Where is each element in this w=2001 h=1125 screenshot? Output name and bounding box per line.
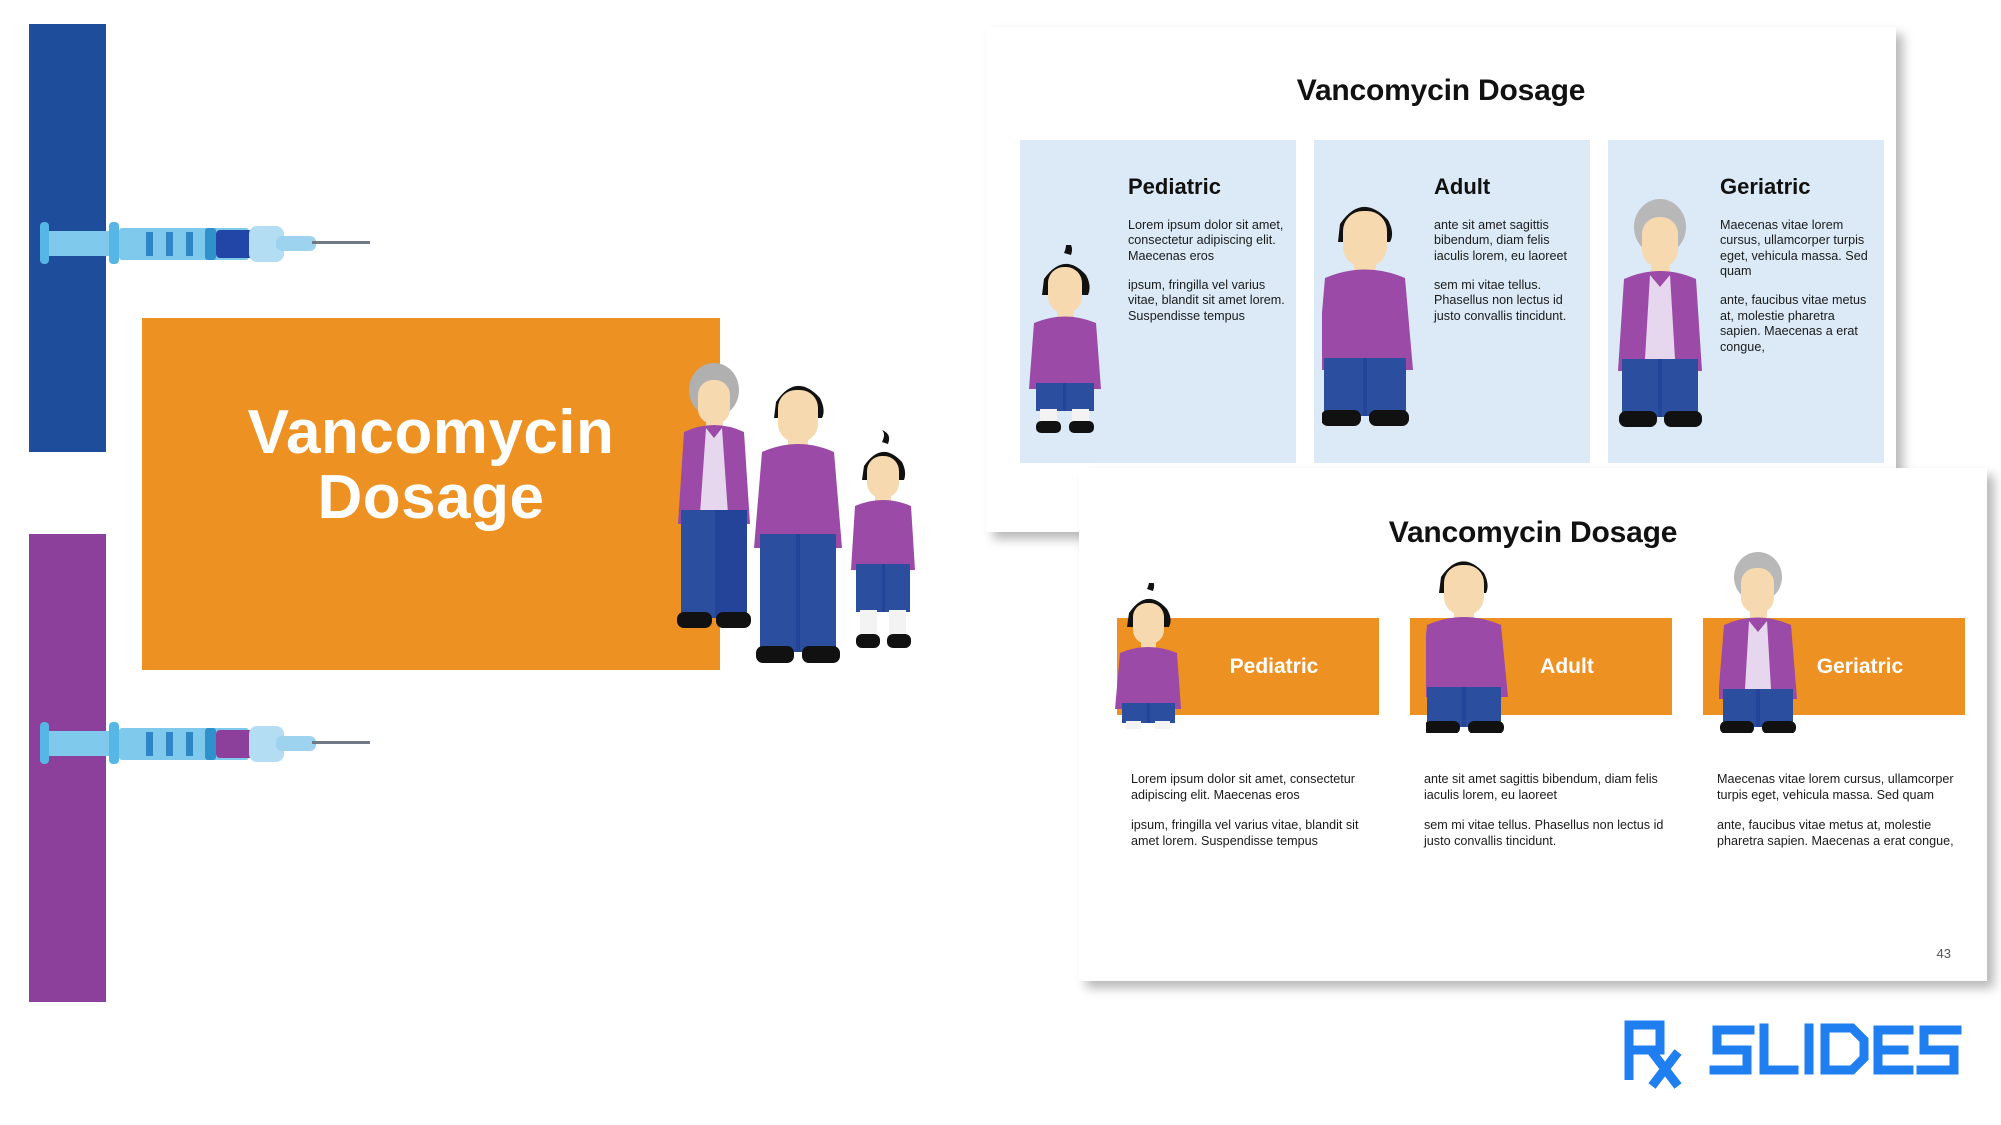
band-pediatric-para2: ipsum, fringilla vel varius vitae, bland… (1131, 818, 1379, 850)
slide-a-title: Vancomycin Dosage (986, 74, 1896, 108)
elder-figure-icon (1719, 545, 1811, 733)
card-pediatric-para1: Lorem ipsum dolor sit amet, consectetur … (1128, 218, 1286, 264)
card-adult-heading: Adult (1434, 174, 1580, 200)
band-geriatric[interactable]: Geriatric Maecenas vitae lorem cursus, u… (1703, 618, 1965, 863)
adult-figure (754, 386, 842, 663)
card-pediatric-body: Pediatric Lorem ipsum dolor sit amet, co… (1128, 174, 1286, 338)
band-adult-para2: sem mi vitae tellus. Phasellus non lectu… (1424, 818, 1672, 850)
band-pediatric[interactable]: Pediatric Lorem ipsum dolor sit amet, co… (1117, 618, 1379, 863)
slide-thumbnail-bottom[interactable]: Vancomycin Dosage Pediatric (1079, 468, 1987, 981)
rxslides-logo (1616, 1008, 1971, 1100)
slide-b-title: Vancomycin Dosage (1079, 516, 1987, 550)
elder-figure-icon (1616, 191, 1720, 441)
band-pediatric-header: Pediatric (1117, 618, 1379, 715)
card-geriatric-para2: ante, faucibus vitae metus at, molestie … (1720, 293, 1874, 354)
band-adult-body: ante sit amet sagittis bibendum, diam fe… (1410, 772, 1672, 849)
hero-title-line1: Vancomycin (142, 400, 720, 465)
card-adult-para2: sem mi vitae tellus. Phasellus non lectu… (1434, 278, 1580, 324)
band-pediatric-heading: Pediatric (1230, 655, 1319, 679)
hero-people-illustration (672, 350, 962, 680)
child-figure-icon (1113, 583, 1197, 733)
card-pediatric[interactable]: Pediatric Lorem ipsum dolor sit amet, co… (1020, 140, 1296, 463)
hero-title-line2: Dosage (142, 465, 720, 530)
card-pediatric-heading: Pediatric (1128, 174, 1286, 200)
slide-b-band-row: Pediatric Lorem ipsum dolor sit amet, co… (1117, 618, 1965, 863)
syringe-icon-blue (40, 212, 370, 274)
band-adult-para1: ante sit amet sagittis bibendum, diam fe… (1424, 772, 1672, 804)
card-geriatric-body: Geriatric Maecenas vitae lorem cursus, u… (1720, 174, 1874, 369)
child-figure-icon (1026, 245, 1122, 435)
slide-preview-canvas: Vancomycin Dosage (0, 0, 2001, 1125)
band-pediatric-body: Lorem ipsum dolor sit amet, consectetur … (1117, 772, 1379, 849)
slide-a-card-row: Pediatric Lorem ipsum dolor sit amet, co… (1020, 140, 1884, 463)
card-geriatric-para1: Maecenas vitae lorem cursus, ullamcorper… (1720, 218, 1874, 279)
band-adult-heading: Adult (1540, 655, 1594, 679)
band-geriatric-para1: Maecenas vitae lorem cursus, ullamcorper… (1717, 772, 1965, 804)
card-adult-para1: ante sit amet sagittis bibendum, diam fe… (1434, 218, 1580, 264)
adult-figure-icon (1322, 186, 1432, 441)
band-geriatric-para2: ante, faucibus vitae metus at, molestie … (1717, 818, 1965, 850)
hero-title: Vancomycin Dosage (142, 400, 720, 530)
card-adult-body: Adult ante sit amet sagittis bibendum, d… (1434, 174, 1580, 338)
band-pediatric-para1: Lorem ipsum dolor sit amet, consectetur … (1131, 772, 1379, 804)
slide-thumbnail-top[interactable]: Vancomycin Dosage Pediatric (986, 27, 1896, 532)
band-adult[interactable]: Adult ante sit amet sagittis bibendum, d… (1410, 618, 1672, 863)
card-geriatric-heading: Geriatric (1720, 174, 1874, 200)
band-geriatric-body: Maecenas vitae lorem cursus, ullamcorper… (1703, 772, 1965, 849)
adult-figure-icon (1426, 543, 1520, 733)
band-geriatric-header: Geriatric (1703, 618, 1965, 715)
band-adult-header: Adult (1410, 618, 1672, 715)
elder-figure (677, 363, 751, 628)
band-geriatric-heading: Geriatric (1817, 655, 1903, 679)
page-number: 43 (1937, 946, 1951, 961)
child-figure (851, 430, 915, 648)
syringe-icon-purple (40, 712, 370, 774)
card-pediatric-para2: ipsum, fringilla vel varius vitae, bland… (1128, 278, 1286, 324)
card-adult[interactable]: Adult ante sit amet sagittis bibendum, d… (1314, 140, 1590, 463)
card-geriatric[interactable]: Geriatric Maecenas vitae lorem cursus, u… (1608, 140, 1884, 463)
